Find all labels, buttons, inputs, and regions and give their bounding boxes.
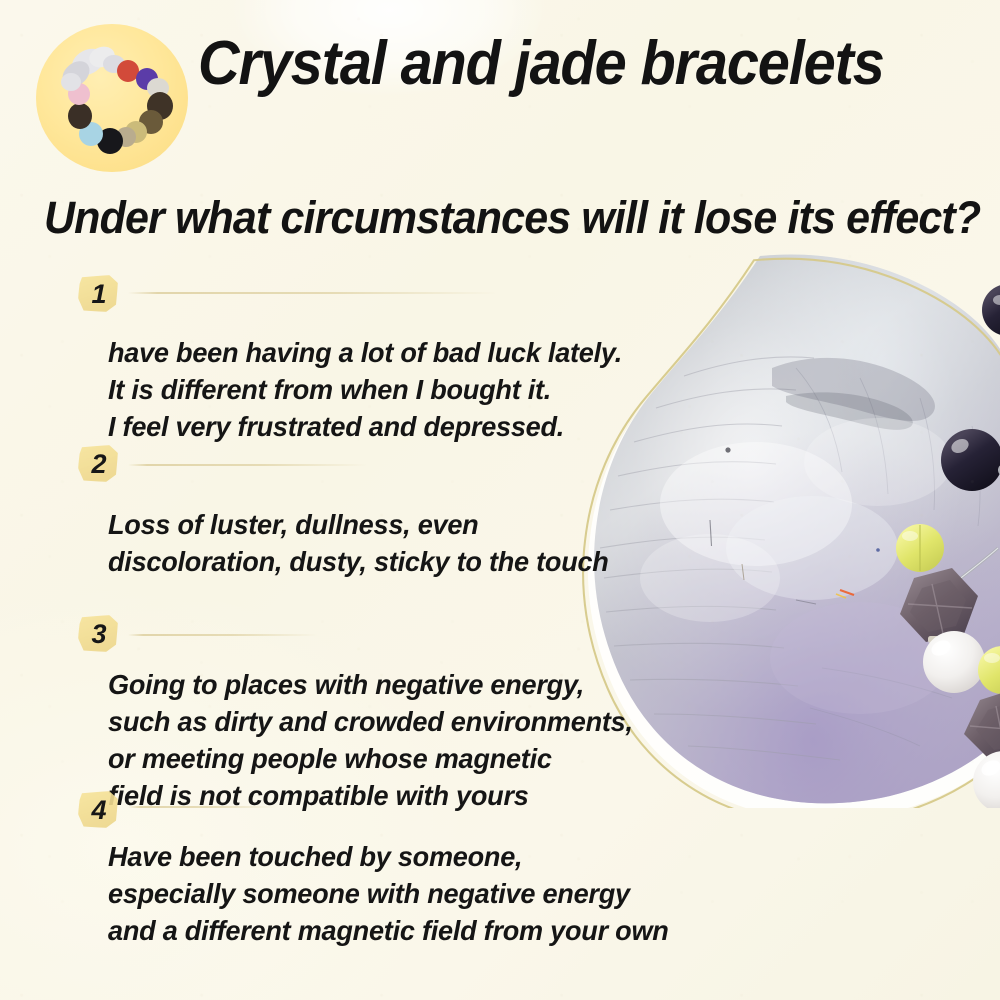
list-marker-3: 3 — [76, 612, 120, 656]
marker-number: 3 — [91, 619, 106, 650]
list-text-3: Going to places with negative energy, su… — [108, 666, 633, 814]
divider-rule-1 — [128, 292, 498, 294]
list-text-4: Have been touched by someone, especially… — [108, 838, 669, 949]
list-marker-4: 4 — [76, 788, 120, 832]
marker-number: 2 — [91, 449, 106, 480]
marker-number: 1 — [91, 279, 106, 310]
divider-rule-2 — [128, 464, 368, 466]
divider-rule-4 — [128, 806, 278, 808]
list-text-1: have been having a lot of bad luck latel… — [108, 334, 622, 445]
poster-canvas: Crystal and jade bracelets Under what ci… — [0, 0, 1000, 1000]
list-marker-2: 2 — [76, 442, 120, 486]
marker-number: 4 — [91, 795, 106, 826]
list-marker-1: 1 — [76, 272, 120, 316]
list-text-2: Loss of luster, dullness, even discolora… — [108, 506, 609, 580]
divider-rule-3 — [128, 634, 318, 636]
reasons-list: 1 have been having a lot of bad luck lat… — [0, 0, 1000, 1000]
